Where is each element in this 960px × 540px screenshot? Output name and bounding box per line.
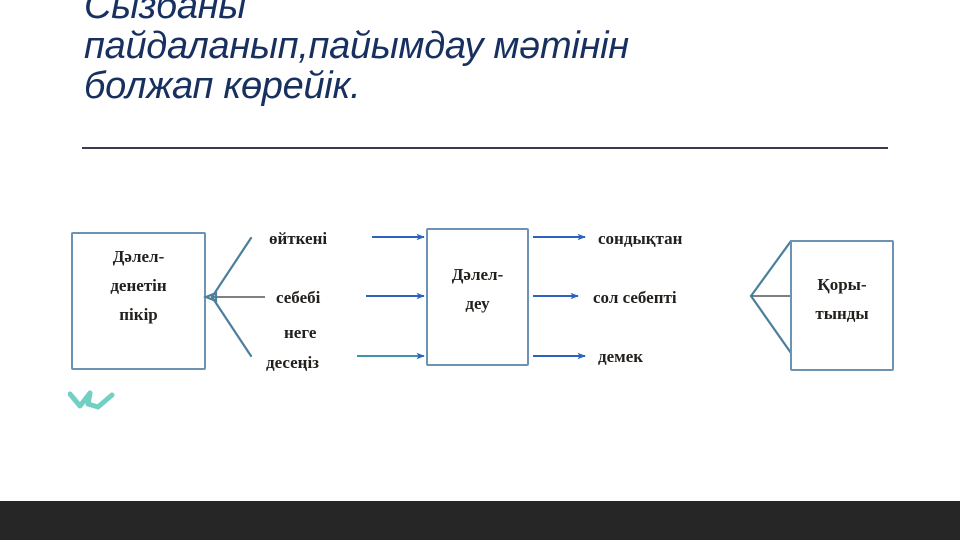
box-proof: Дәлел- деу (427, 229, 528, 365)
argument-flow-diagram: Дәлел- денетін пікір өйткені себебі неге… (0, 190, 960, 440)
page-title: Сызбаны пайдаланып,пайымдау мәтінін болж… (84, 0, 894, 106)
connector-label-sebebi: себебі (276, 288, 321, 307)
arrows-left-to-proof (357, 237, 424, 356)
left-fan-connector (206, 238, 265, 356)
box-conclusion-line1: Қоры- (817, 275, 867, 294)
connector-label-nege: неге (284, 323, 317, 342)
box-conclusion: Қоры- тынды (791, 241, 893, 370)
title-block: Сызбаны пайдаланып,пайымдау мәтінін болж… (84, 0, 894, 106)
connector-label-sol-sebepti: сол себепті (593, 288, 677, 307)
box-premise-line3: пікір (119, 305, 158, 324)
connector-label-oitkeni: өйткені (269, 229, 327, 248)
box-proof-line2: деу (465, 294, 490, 313)
connector-label-deseniz: десеңіз (266, 353, 319, 372)
box-conclusion-line2: тынды (815, 304, 868, 323)
right-fan-connector (751, 241, 791, 353)
bottom-bar (0, 501, 960, 540)
connector-label-sondyktan: сондықтан (598, 229, 683, 248)
box-premise-line2: денетін (110, 276, 167, 295)
connector-label-demek: демек (598, 347, 643, 366)
box-premise: Дәлел- денетін пікір (72, 233, 205, 369)
box-proof-line1: Дәлел- (452, 265, 504, 284)
box-premise-line1: Дәлел- (113, 247, 165, 266)
title-divider (82, 147, 888, 149)
arrows-proof-to-right (533, 237, 585, 356)
slide-canvas: Сызбаны пайдаланып,пайымдау мәтінін болж… (0, 0, 960, 540)
teal-swoosh-mark (68, 390, 118, 414)
